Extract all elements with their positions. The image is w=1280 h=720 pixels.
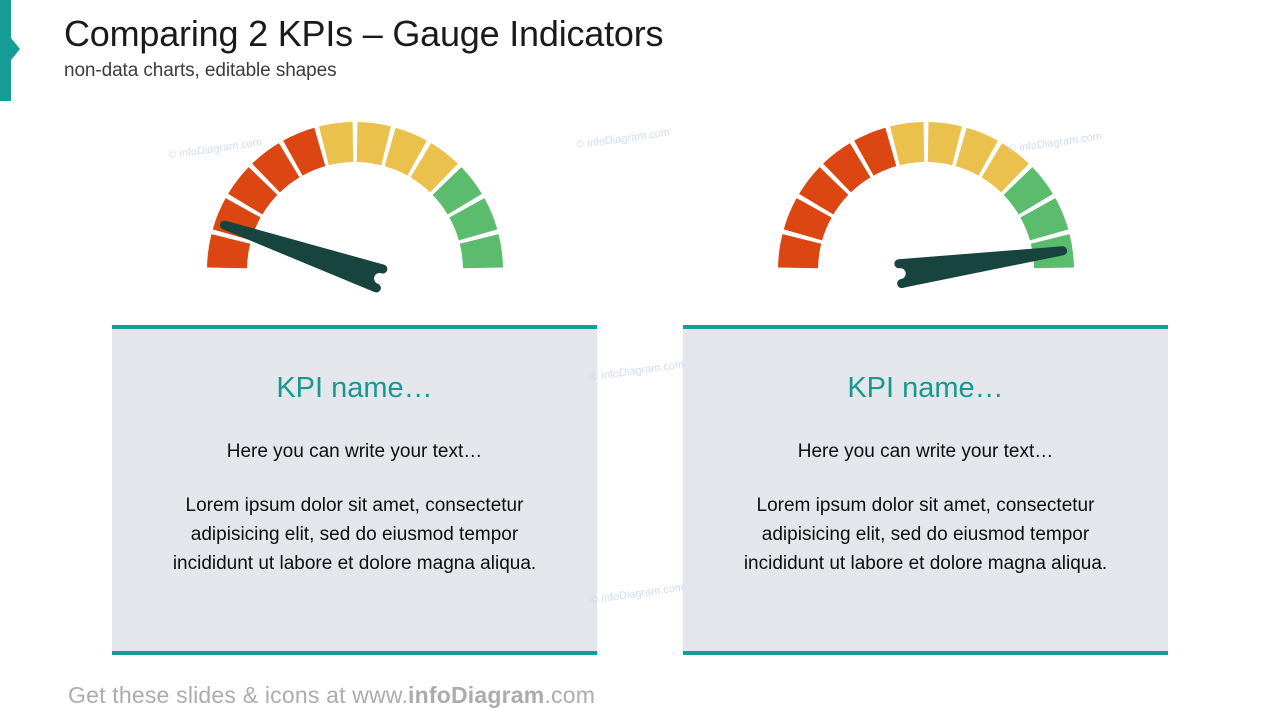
accent-chevron-icon [11, 38, 20, 60]
gauge-segment [207, 234, 250, 268]
footer-credit: Get these slides & icons at www.infoDiag… [68, 682, 595, 709]
gauge-svg-1 [205, 120, 505, 300]
gauge-segments-1 [207, 122, 503, 268]
page-subtitle: non-data charts, editable shapes [64, 60, 663, 82]
kpi-name-1: KPI name… [144, 371, 565, 406]
gauge-chart-1 [112, 120, 597, 300]
gauge-svg-2 [776, 120, 1076, 300]
footer-brand: infoDiagram [408, 682, 544, 708]
gauge-segment [459, 234, 502, 268]
kpi-body-2: Lorem ipsum dolor sit amet, consectetur … [715, 492, 1136, 579]
watermark: © infoDiagram.com [590, 581, 685, 606]
kpi-subtitle-1: Here you can write your text… [144, 440, 565, 465]
footer-suffix: .com [544, 682, 595, 708]
gauge-segment [319, 122, 353, 165]
gauge-segment [927, 122, 961, 165]
kpi-card-1: KPI name… Here you can write your text… … [112, 325, 597, 655]
gauge-segments-2 [778, 122, 1074, 268]
page-title: Comparing 2 KPIs – Gauge Indicators [64, 12, 663, 56]
kpi-name-2: KPI name… [715, 371, 1136, 406]
gauge-needle [224, 225, 382, 288]
gauge-chart-2 [683, 120, 1168, 300]
gauge-segment [356, 122, 390, 165]
kpi-subtitle-2: Here you can write your text… [715, 440, 1136, 465]
gauge-needle-1 [224, 225, 382, 288]
footer-prefix: Get these slides & icons at www. [68, 682, 408, 708]
gauge-segment [890, 122, 924, 165]
page-header: Comparing 2 KPIs – Gauge Indicators non-… [64, 12, 663, 82]
kpi-body-1: Lorem ipsum dolor sit amet, consectetur … [144, 492, 565, 579]
accent-bar [0, 0, 11, 101]
kpi-card-2: KPI name… Here you can write your text… … [683, 325, 1168, 655]
watermark: © infoDiagram.com [590, 358, 685, 383]
kpi-panel-1: KPI name… Here you can write your text… … [112, 120, 597, 655]
kpi-panel-2: KPI name… Here you can write your text… … [683, 120, 1168, 655]
gauge-segment [778, 234, 821, 268]
